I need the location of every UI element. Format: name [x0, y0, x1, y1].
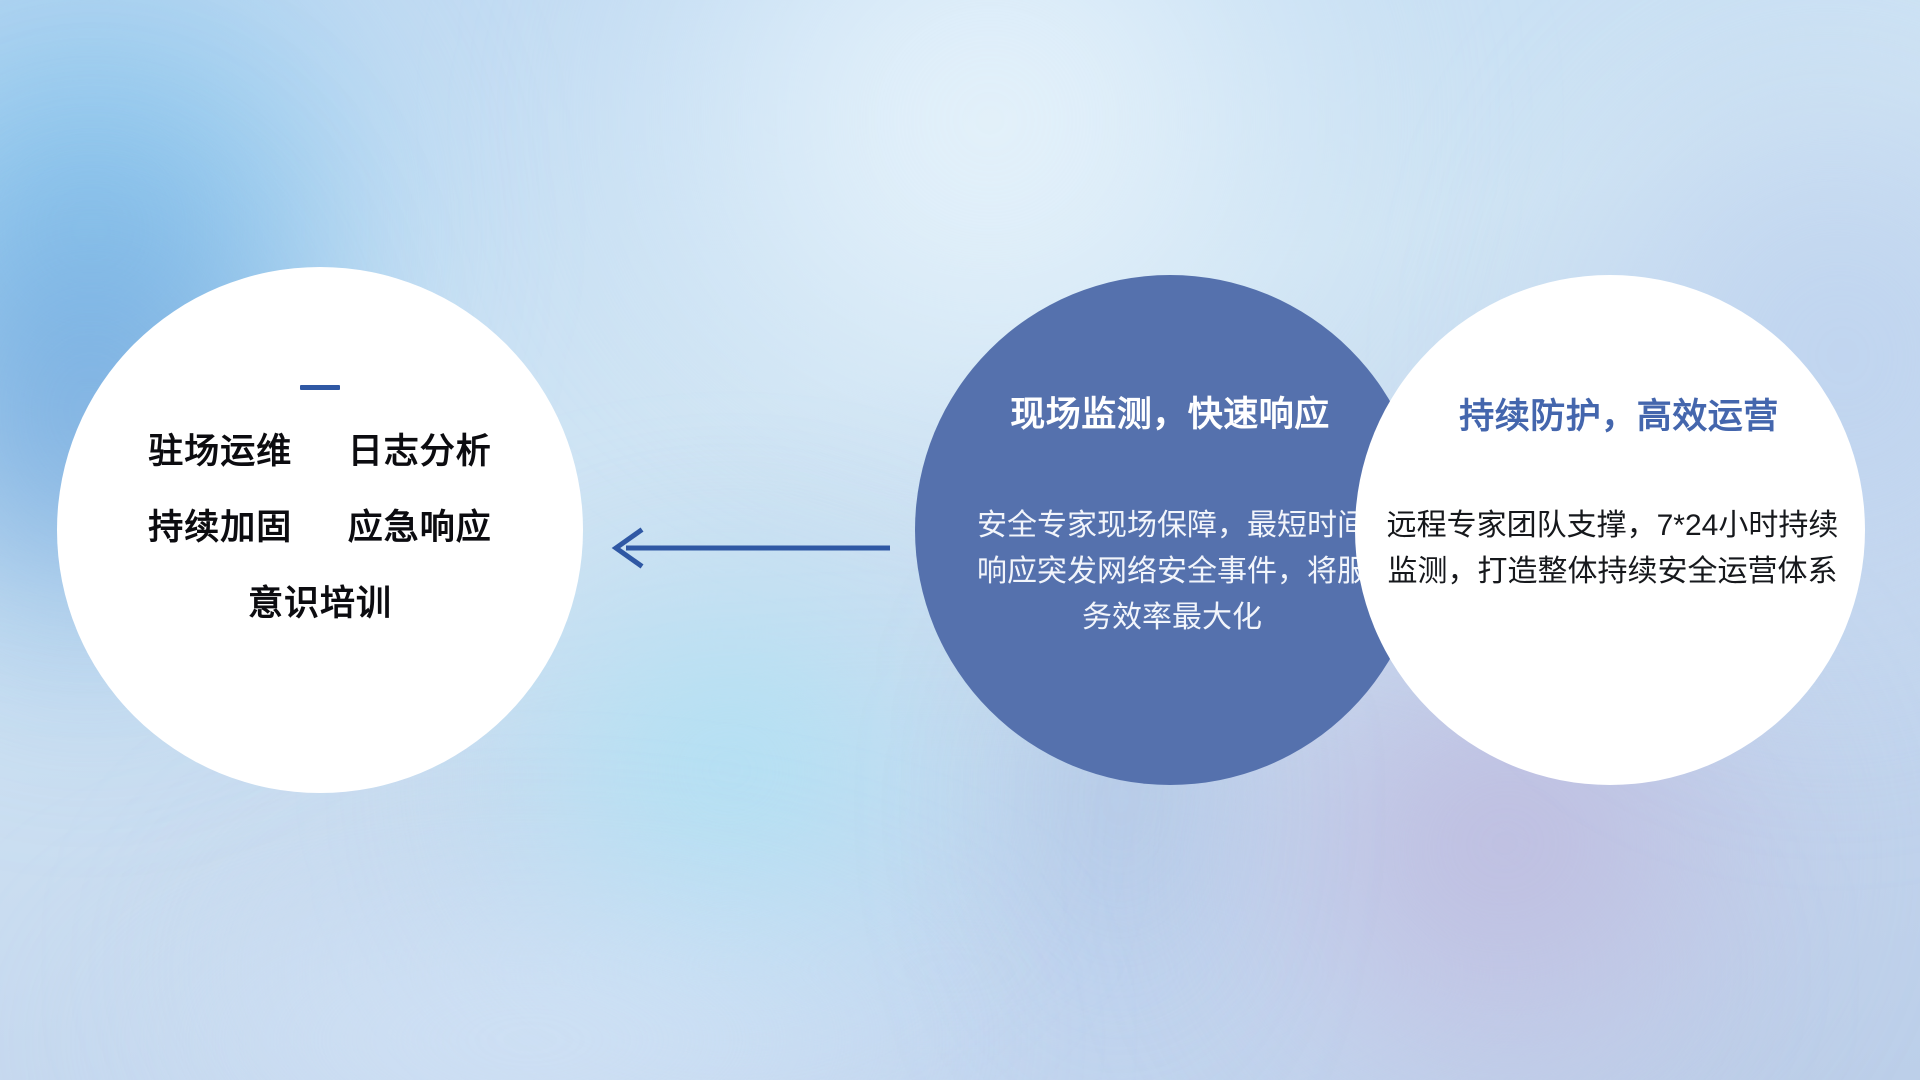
capability-tag: 日志分析: [348, 432, 492, 471]
capability-circle-right[interactable]: 持续防护，高效运营 远程专家团队支撑，7*24小时持续监测，打造整体持续安全运营…: [1355, 275, 1865, 785]
flow-connector: [600, 518, 890, 578]
capability-row: 意识培训: [57, 586, 583, 621]
capability-circle-left[interactable]: 驻场运维 日志分析 持续加固 应急响应 意识培训: [57, 267, 583, 793]
middle-circle-title: 现场监测，快速响应: [893, 386, 1447, 437]
capability-row: 驻场运维 日志分析: [57, 434, 583, 469]
capability-tag: 应急响应: [348, 508, 492, 547]
capability-tag: 驻场运维: [148, 432, 292, 471]
left-arrow-icon: [600, 518, 890, 578]
slide-canvas: 驻场运维 日志分析 持续加固 应急响应 意识培训 现场监测，快速响应 安全专家现…: [0, 0, 1920, 1080]
right-circle-body: 远程专家团队支撑，7*24小时持续监测，打造整体持续安全运营体系: [1385, 503, 1840, 595]
capability-row: 持续加固 应急响应: [57, 510, 583, 545]
middle-circle-body: 安全专家现场保障，最短时间响应突发网络安全事件，将服务效率最大化: [977, 503, 1367, 641]
capability-tag: 持续加固: [148, 508, 292, 547]
capability-list: 驻场运维 日志分析 持续加固 应急响应 意识培训: [57, 385, 583, 621]
capability-circle-middle[interactable]: 现场监测，快速响应 安全专家现场保障，最短时间响应突发网络安全事件，将服务效率最…: [915, 275, 1425, 785]
right-circle-title: 持续防护，高效运营: [1377, 388, 1861, 439]
capability-tag: 意识培训: [248, 584, 392, 623]
accent-dash-icon: [300, 385, 340, 390]
